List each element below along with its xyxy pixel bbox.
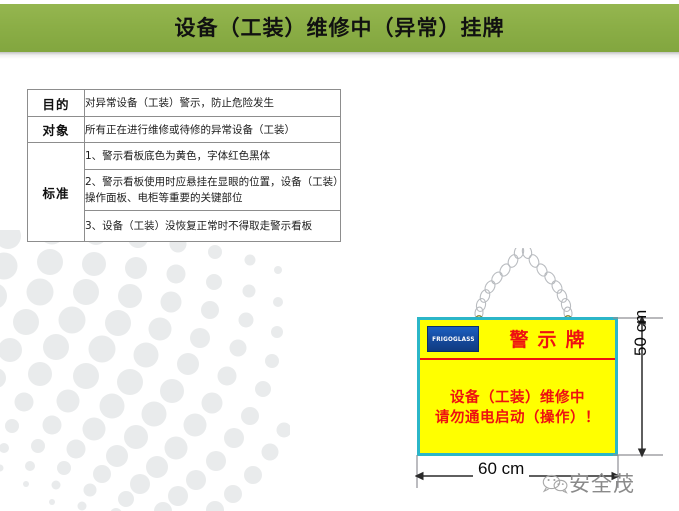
table-cell-text: 3、设备（工装）没恢复正常时不得取走警示看板	[85, 211, 341, 242]
sign-body: 设备（工装）维修中 请勿通电启动（操作）！	[420, 362, 615, 453]
page-title: 设备（工装）维修中（异常）挂牌	[0, 4, 679, 52]
table-row: 目的 对异常设备（工装）警示，防止危险发生	[28, 90, 341, 117]
table-cell-text: 对异常设备（工装）警示，防止危险发生	[85, 90, 341, 117]
halftone-dot-pattern	[0, 230, 290, 511]
table-cell-label: 标准	[28, 143, 85, 242]
table-row: 标准 1、警示看板底色为黄色，字体红色黑体	[28, 143, 341, 170]
logo-text: FRIGOGLASS	[432, 336, 475, 343]
table-cell-text: 2、警示看板使用时应悬挂在显眼的位置，设备（工装）操作面板、电柜等重要的关键部位	[85, 170, 341, 211]
watermark: 安全茂	[541, 466, 677, 500]
slide-canvas: 设备（工装）维修中（异常）挂牌 目的 对异常设备（工装）警示，防止危险发生 对象…	[0, 0, 679, 511]
table-row: 对象 所有正在进行维修或待修的异常设备（工装）	[28, 117, 341, 143]
sign-message-line-1: 设备（工装）维修中	[450, 388, 585, 408]
sign-title: 警示牌	[482, 325, 612, 355]
warning-sign-board: FRIGOGLASS 警示牌 设备（工装）维修中 请勿通电启动（操作）！	[417, 317, 618, 456]
dimension-height-label: 50 cm	[631, 310, 651, 356]
watermark-text: 安全茂	[569, 468, 635, 498]
table-cell-label: 对象	[28, 117, 85, 143]
info-table: 目的 对异常设备（工装）警示，防止危险发生 对象 所有正在进行维修或待修的异常设…	[27, 89, 341, 242]
sign-header: FRIGOGLASS 警示牌	[420, 320, 615, 360]
frigoglass-logo: FRIGOGLASS	[427, 326, 479, 352]
table-cell-label: 目的	[28, 90, 85, 117]
dimension-width-label: 60 cm	[473, 459, 529, 479]
sign-message-line-2: 请勿通电启动（操作）！	[435, 408, 600, 428]
hanging-chain-icon	[415, 248, 635, 328]
header-shadow	[0, 52, 679, 59]
wechat-icon	[541, 472, 568, 494]
table-cell-text: 1、警示看板底色为黄色，字体红色黑体	[85, 143, 341, 170]
table-cell-text: 所有正在进行维修或待修的异常设备（工装）	[85, 117, 341, 143]
